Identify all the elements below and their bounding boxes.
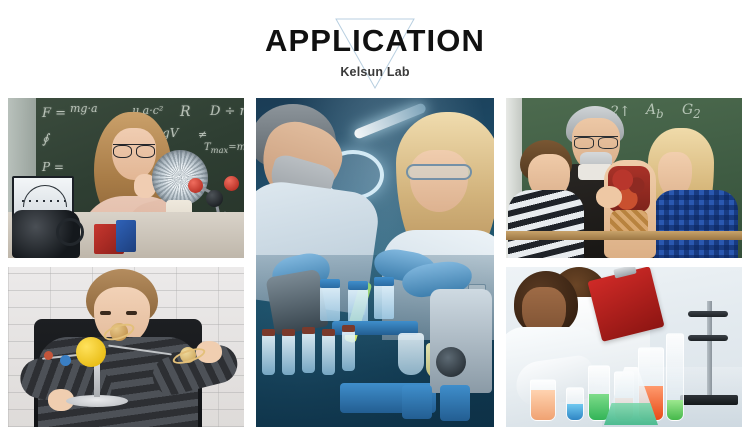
gallery-photo-3[interactable]: Two scientists in white lab coats and sa… xyxy=(256,98,494,427)
application-banner: APPLICATION Kelsun Lab F = mg·a μ a·c² R… xyxy=(0,0,750,432)
photo-5-scene xyxy=(506,267,742,427)
page-subtitle: Kelsun Lab xyxy=(340,65,409,79)
banner-header: APPLICATION Kelsun Lab xyxy=(0,0,750,90)
page-title: APPLICATION xyxy=(265,25,485,56)
gallery-photo-1[interactable]: F = mg·a μ a·c² R D ÷ т ∮ ƒn=ρgV ≠ Tmax=… xyxy=(8,98,244,258)
gallery-photo-5[interactable]: Students in white lab coats with a red c… xyxy=(506,267,742,427)
photo-3-scene xyxy=(256,98,494,427)
photo-4-scene: 2↑ 8 Ab G2 ÷ B xyxy=(506,98,742,258)
photo-1-scene: F = mg·a μ a·c² R D ÷ т ∮ ƒn=ρgV ≠ Tmax=… xyxy=(8,98,244,258)
photo-2-scene xyxy=(8,267,244,427)
gallery-photo-2[interactable]: Boy in a black and grey striped sweater … xyxy=(8,267,244,427)
gallery-photo-4[interactable]: 2↑ 8 Ab G2 ÷ B xyxy=(506,98,742,258)
photo-gallery-grid: F = mg·a μ a·c² R D ÷ т ∮ ƒn=ρgV ≠ Tmax=… xyxy=(8,98,742,418)
